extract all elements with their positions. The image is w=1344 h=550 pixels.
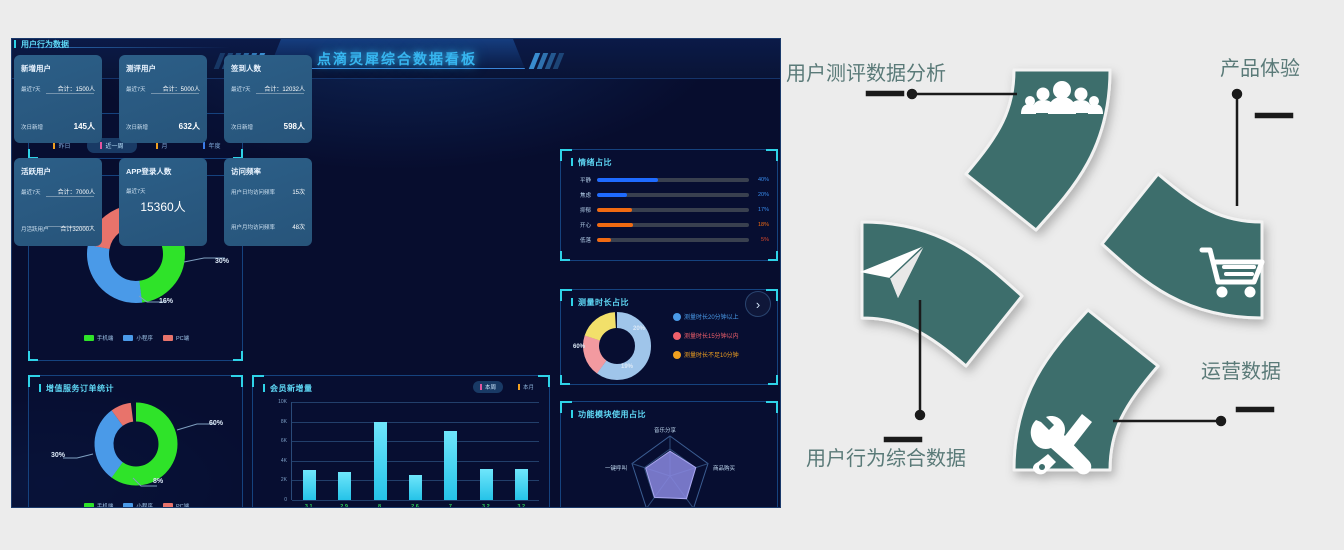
bar	[303, 470, 316, 500]
card-row: 最近7天 合计：7000人	[21, 187, 95, 196]
bar-track	[597, 208, 749, 212]
duration-slice-label-1: 60%	[573, 344, 585, 350]
radar-axis-label-3: 一键通话	[689, 506, 711, 508]
device-order-legend: 手机端 小程序 PC端	[29, 334, 244, 342]
legend-item: 小程序	[123, 502, 153, 508]
card-divider	[151, 93, 199, 94]
card-divider	[46, 196, 94, 197]
service-order-title: 增值服务订单统计	[39, 383, 114, 394]
service-slice-label-1: 60%	[209, 420, 223, 427]
card-big-value: 15360人	[119, 198, 207, 215]
member-growth-toggle-group: 本周 本月	[473, 381, 541, 393]
card-checkin-count[interactable]: 签到人数 最近7天 合计：12032人 次日新增 598人	[224, 55, 312, 143]
legend-item: 手机端	[84, 502, 114, 508]
blade-bottom	[1014, 310, 1158, 470]
card-title: 新增用户	[21, 63, 95, 74]
device-slice-label-2: 30%	[215, 258, 229, 265]
radar-axis-label-2: 商品购买	[713, 464, 735, 472]
card-title: 活跃用户	[21, 166, 95, 177]
service-order-donut-chart	[29, 396, 244, 492]
member-growth-title: 会员新增量	[263, 383, 313, 394]
card-row: 次日新增 632人	[126, 121, 200, 132]
bar-track	[597, 238, 749, 242]
page-root: 点滴灵犀综合数据看板 时间维度选择 昨日 近一周 月	[0, 0, 1344, 550]
measure-duration-legend: 测量时长20分钟以上 测量时长15分钟以内 测量时长不足10分钟	[673, 312, 739, 369]
card-new-users[interactable]: 新增用户 最近7天 合计：1500人 次日新增 145人	[14, 55, 102, 143]
toggle-marker-icon	[518, 384, 520, 390]
bar-row: 焦虑 20%	[571, 187, 769, 202]
bar-row: 抑郁 17%	[571, 202, 769, 217]
service-order-legend: 手机端 小程序 PC端	[29, 502, 244, 508]
device-slice-label-3: 16%	[159, 298, 173, 305]
blade-left	[862, 222, 1022, 366]
radar-axis-label-4: 实时定位	[627, 506, 649, 508]
toggle-week[interactable]: 本周	[473, 381, 503, 393]
dashboard-panel: 点滴灵犀综合数据看板 时间维度选择 昨日 近一周 月	[11, 38, 781, 508]
bar	[409, 475, 422, 500]
illustration-label-operations: 运营数据	[1201, 355, 1281, 384]
x-tick-label: 2.9	[334, 504, 354, 508]
bar-row: 开心 18%	[571, 217, 769, 232]
card-title: 签到人数	[231, 63, 305, 74]
x-tick-label: 2.6	[405, 504, 425, 508]
legend-item: 测量时长20分钟以上	[673, 312, 739, 321]
duration-slice-label-3: 19%	[621, 364, 633, 370]
card-row: 次日新增 145人	[21, 121, 95, 132]
legend-item: PC端	[163, 334, 189, 342]
card-row: 最近7天 合计：12032人	[231, 84, 305, 93]
x-tick-label: 3.2	[511, 504, 531, 508]
service-slice-label-2: 30%	[51, 452, 65, 459]
user-behavior-title: 用户行为数据	[14, 39, 69, 50]
legend-item: 小程序	[123, 334, 153, 342]
emotion-bar-rows: 平静 40% 焦虑 20% 抑郁 17% 开心 18%	[571, 172, 769, 247]
x-tick-label: 3.1	[299, 504, 319, 508]
card-row: 用户月均访问频率 48次	[231, 222, 305, 231]
bar	[480, 469, 493, 500]
illustration-label-assessment: 用户测评数据分析	[786, 57, 946, 86]
card-row: 次日新增 598人	[231, 121, 305, 132]
legend-item: 手机端	[84, 334, 114, 342]
bar	[374, 422, 387, 500]
radar-axis-label-5: 一键呼叫	[605, 464, 627, 472]
card-divider	[256, 93, 304, 94]
member-growth-bars	[292, 402, 539, 500]
card-title: 访问频率	[231, 166, 305, 177]
y-tick-label: 10K	[278, 399, 287, 405]
card-title: APP登录人数	[126, 166, 200, 177]
y-tick-label: 6K	[281, 438, 287, 444]
user-behavior-section: 用户行为数据 新增用户 最近7天 合计：1500人 次日新增 145人 测评用户	[12, 39, 310, 265]
illustration-label-product-experience: 产品体验	[1220, 52, 1300, 81]
emotion-ratio-title: 情绪占比	[571, 157, 612, 168]
radar-axis-label-1: 音乐分享	[654, 426, 676, 434]
member-growth-x-labels: 3.1 2.9 8 2.6 7 3.2 3.2	[291, 504, 539, 508]
member-growth-panel: 会员新增量 本周 本月 10K 8K 6K 4K 2K 0	[252, 375, 550, 508]
service-order-panel: 增值服务订单统计 60% 30% 8% 手机端 小程序 PC端	[28, 375, 243, 508]
card-visit-frequency[interactable]: 访问频率 用户日均访问频率 15次 用户月均访问频率 48次	[224, 158, 312, 246]
user-behavior-card-grid: 新增用户 最近7天 合计：1500人 次日新增 145人 测评用户 最近7天	[14, 55, 312, 246]
toggle-month[interactable]: 本月	[511, 381, 541, 393]
member-growth-plot-area: 10K 8K 6K 4K 2K 0	[291, 402, 539, 500]
service-slice-label-3: 8%	[153, 478, 163, 485]
bar-track	[597, 193, 749, 197]
y-tick-label: 8K	[281, 419, 287, 425]
measure-duration-title: 测量时长占比	[571, 297, 629, 308]
bar	[338, 472, 351, 500]
card-row: 最近7天	[126, 187, 200, 195]
toggle-marker-icon	[480, 384, 482, 390]
duration-slice-label-2: 20%	[633, 326, 645, 332]
x-tick-label: 3.2	[476, 504, 496, 508]
x-tick-label: 7	[440, 504, 460, 508]
y-tick-label: 4K	[281, 458, 287, 464]
card-assessment-users[interactable]: 测评用户 最近7天 合计：5000人 次日新增 632人	[119, 55, 207, 143]
legend-item: PC端	[163, 502, 189, 508]
next-arrow-button[interactable]: ›	[745, 291, 771, 317]
legend-item: 测量时长不足10分钟	[673, 350, 739, 359]
card-row: 最近7天 合计：1500人	[21, 84, 95, 93]
y-tick-label: 2K	[281, 477, 287, 483]
card-divider	[46, 226, 94, 227]
feature-usage-title: 功能模块使用占比	[571, 409, 646, 420]
y-tick-label: 0	[284, 497, 287, 503]
bar	[515, 469, 528, 500]
card-title: 测评用户	[126, 63, 200, 74]
card-active-users[interactable]: 活跃用户 最近7天 合计：7000人 月活跃用户 合计32000人	[14, 158, 102, 246]
feature-usage-panel: 功能模块使用占比 音乐分享 商品购买 一键通话 实时定位 一键呼叫	[560, 401, 778, 508]
emotion-ratio-panel: 情绪占比 平静 40% 焦虑 20% 抑郁 17% 开	[560, 149, 778, 261]
illustration-label-user-behavior: 用户行为综合数据	[806, 442, 966, 471]
pinwheel-illustration: 用户测评数据分析 产品体验 用户行为综合数据 运营数据	[781, 0, 1344, 550]
x-tick-label: 8	[370, 504, 390, 508]
bar-track	[597, 223, 749, 227]
bar-track	[597, 178, 749, 182]
card-row: 用户日均访问频率 15次	[231, 187, 305, 196]
bar-row: 低落 5%	[571, 232, 769, 247]
card-app-logins[interactable]: APP登录人数 最近7天 15360人	[119, 158, 207, 246]
card-divider	[46, 93, 94, 94]
bar-row: 平静 40%	[571, 172, 769, 187]
legend-item: 测量时长15分钟以内	[673, 331, 739, 340]
bar	[444, 431, 457, 500]
card-row: 最近7天 合计：5000人	[126, 84, 200, 93]
